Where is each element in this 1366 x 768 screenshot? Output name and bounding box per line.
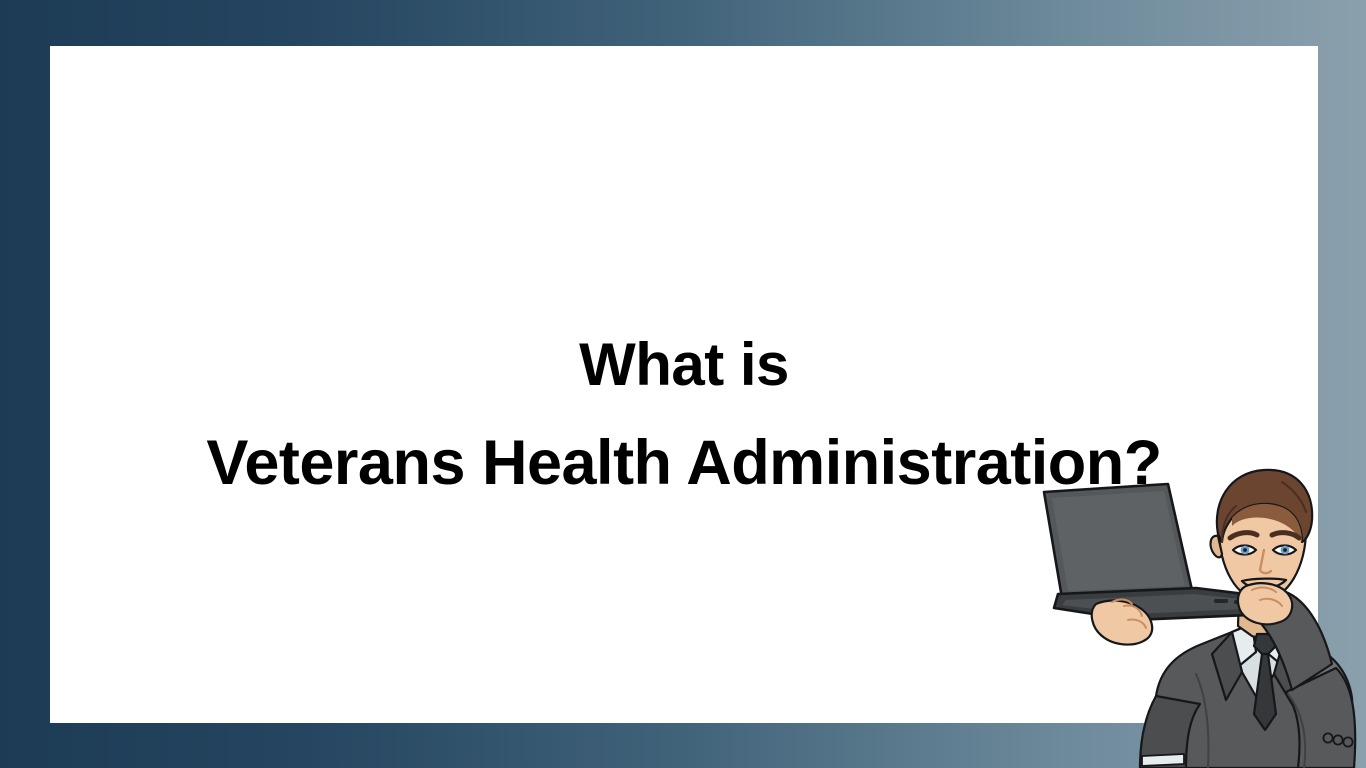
title-line-1: What is	[50, 334, 1318, 396]
title-line-2: Veterans Health Administration?	[50, 430, 1318, 496]
slide-canvas: What is Veterans Health Administration?	[0, 0, 1366, 768]
content-card: What is Veterans Health Administration?	[50, 46, 1318, 723]
